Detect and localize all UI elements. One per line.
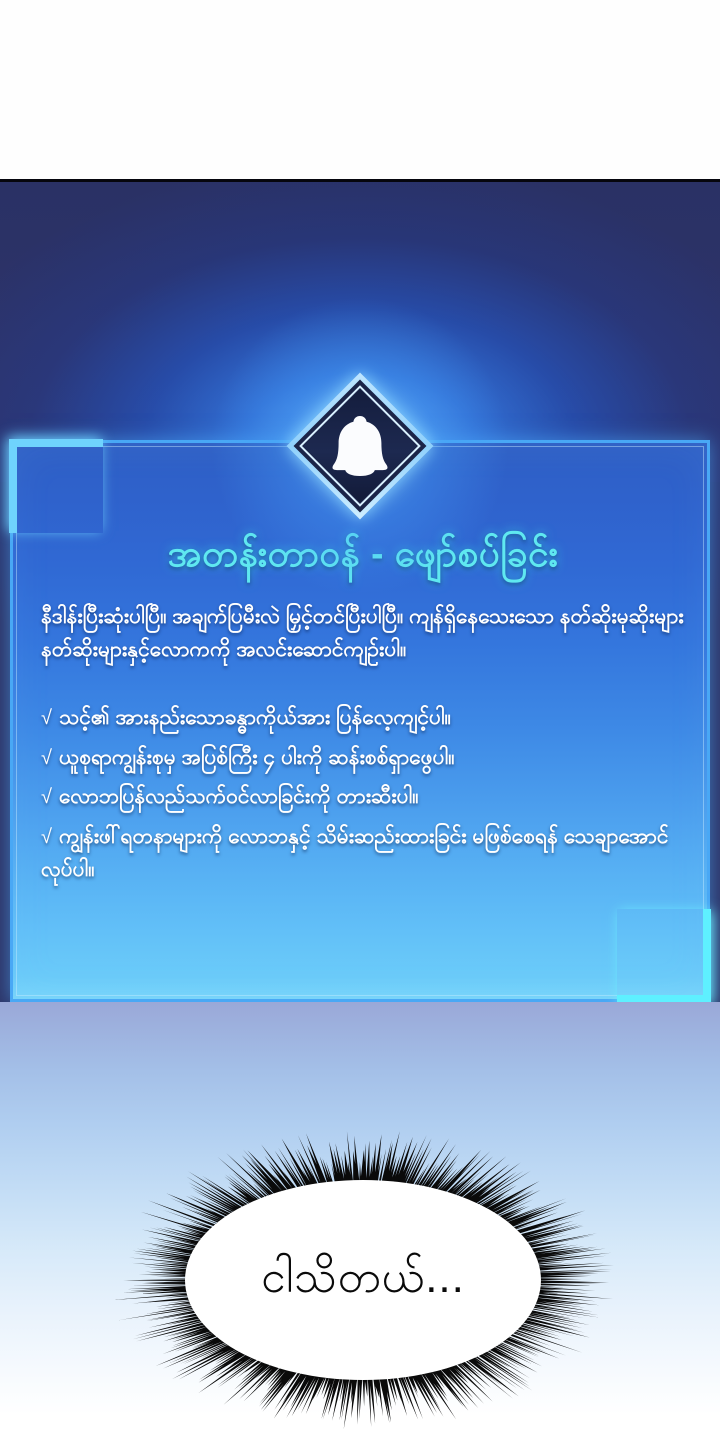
card-corner-bottom-right (617, 909, 711, 1003)
check-icon: √ (41, 782, 52, 813)
quest-objective-label: သင့်၏ အားနည်းသောခန္ဓာကိုယ်အား ပြန်လေ့ကျင… (59, 706, 451, 729)
quest-objective-label: ကျွန်းဖါ်ရတနာများကို လောဘနှင့် သိမ်းဆည်း… (41, 825, 669, 881)
quest-objective-label: လောဘပြန်လည်သက်ဝင်လာခြင်းကို တားဆီးပါ။ (59, 785, 419, 808)
check-icon: √ (41, 822, 52, 853)
page-top-gutter (0, 0, 720, 181)
comic-page: အတန်းတာဝန် - ဖျော်စပ်ခြင်း နီဒါန်းပြီးဆု… (0, 0, 720, 1441)
quest-objective-item: √ကျွန်းဖါ်ရတနာများကို လောဘနှင့် သိမ်းဆည်… (41, 821, 685, 886)
quest-objective-item: √ယူစုရာကျွန်းစုမှ အပြစ်ကြီး ၄ ပါးကို ဆန်… (41, 742, 685, 775)
quest-scene-panel: အတန်းတာဝန် - ဖျော်စပ်ခြင်း နီဒါန်းပြီးဆု… (0, 182, 720, 1010)
quest-objective-label: ယူစုရာကျွန်းစုမှ အပြစ်ကြီး ၄ ပါးကို ဆန်း… (59, 746, 455, 769)
quest-objective-item: √သင့်၏ အားနည်းသောခန္ဓာကိုယ်အား ပြန်လေ့ကျ… (41, 702, 685, 735)
speech-bubble-text: ငါသိတယ်... (108, 1254, 618, 1302)
check-icon: √ (41, 703, 52, 734)
check-icon: √ (41, 743, 52, 774)
quest-emblem (286, 372, 434, 520)
quest-objective-list: √သင့်၏ အားနည်းသောခန္ဓာကိုယ်အား ပြန်လေ့ကျ… (13, 666, 713, 886)
speech-bubble: ငါသိတယ်... (108, 1118, 618, 1441)
quest-objective-item: √လောဘပြန်လည်သက်ဝင်လာခြင်းကို တားဆီးပါ။ (41, 781, 685, 814)
bell-icon (329, 413, 391, 479)
